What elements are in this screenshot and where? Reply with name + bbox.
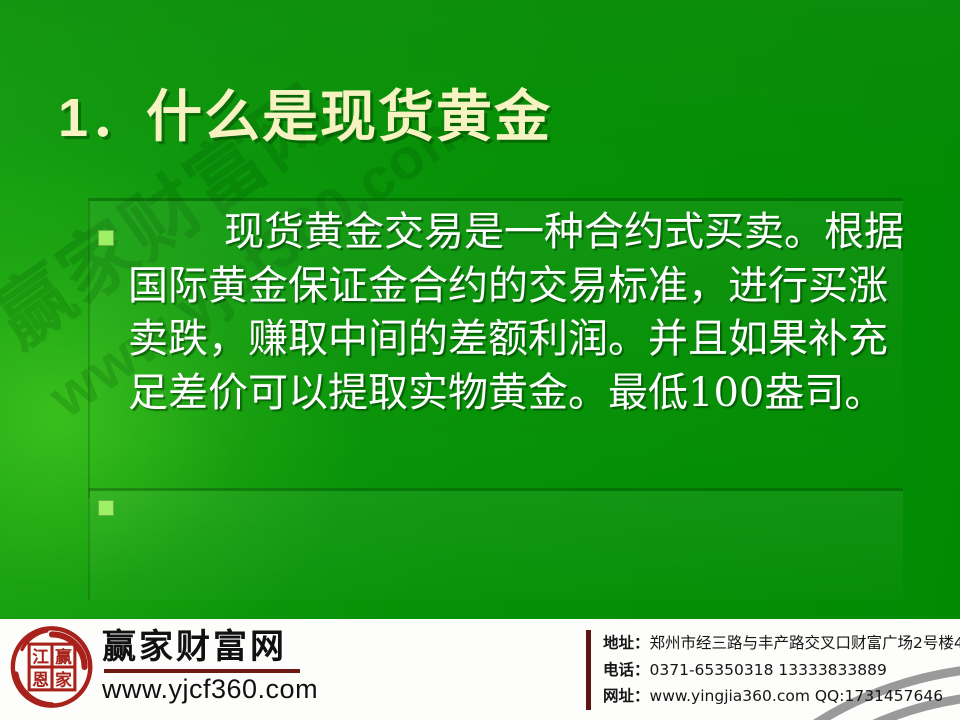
contact-label-address: 地址： bbox=[603, 634, 650, 652]
slide-canvas: 赢家财富网 www.yjcf360.com 1．什么是现货黄金 现货黄金交易是一… bbox=[0, 0, 960, 720]
contact-line-address: 地址：郑州市经三路与丰产路交叉口财富广场2号楼4楼C户 bbox=[603, 630, 960, 657]
contact-value-address: 郑州市经三路与丰产路交叉口财富广场2号楼4楼C户 bbox=[650, 634, 960, 652]
bullet-marker-1 bbox=[98, 230, 114, 246]
contact-value-phone: 0371-65350318 13333833889 bbox=[650, 661, 887, 679]
bullet-square-icon bbox=[98, 230, 114, 246]
contact-value-website[interactable]: www.yingjia360.com QQ:1731457646 bbox=[650, 687, 944, 705]
seal-char-tl: 江 bbox=[32, 647, 49, 667]
brand-divider bbox=[104, 669, 300, 673]
content-panel-secondary bbox=[88, 488, 903, 600]
page-title-number: 1． bbox=[58, 88, 146, 148]
contact-label-website: 网址： bbox=[603, 687, 650, 705]
contact-lines: 地址：郑州市经三路与丰产路交叉口财富广场2号楼4楼C户 电话：0371-6535… bbox=[603, 630, 960, 710]
brand-block: 江 赢 恩 家 赢家财富网 www.yjcf360.com bbox=[8, 623, 318, 711]
seal-char-br: 家 bbox=[55, 669, 72, 689]
brand-name: 赢家财富网 bbox=[102, 630, 318, 666]
page-title: 1．什么是现货黄金 bbox=[58, 72, 552, 153]
contact-label-phone: 电话： bbox=[603, 661, 650, 679]
contact-line-phone: 电话：0371-65350318 13333833889 bbox=[603, 657, 960, 684]
seal-char-bl: 恩 bbox=[32, 669, 49, 689]
contact-line-website: 网址：www.yingjia360.com QQ:1731457646 bbox=[603, 683, 960, 710]
seal-char-tr: 赢 bbox=[55, 647, 72, 667]
brand-text-block: 赢家财富网 www.yjcf360.com bbox=[102, 630, 318, 704]
bullet-marker-2 bbox=[98, 500, 114, 516]
brand-website-url[interactable]: www.yjcf360.com bbox=[102, 675, 318, 705]
bullet-square-icon bbox=[98, 500, 114, 516]
contact-block: 地址：郑州市经三路与丰产路交叉口财富广场2号楼4楼C户 电话：0371-6535… bbox=[586, 630, 960, 710]
contact-accent-bar bbox=[586, 630, 591, 710]
company-seal-logo-icon: 江 赢 恩 家 bbox=[8, 623, 96, 711]
page-title-text: 什么是现货黄金 bbox=[146, 84, 552, 150]
footer-bar: 江 赢 恩 家 赢家财富网 www.yjcf360.com 地址：郑州市经三路与… bbox=[0, 619, 960, 720]
body-paragraph: 现货黄金交易是一种合约式买卖。根据国际黄金保证金合约的交易标准，进行买涨卖跌，赚… bbox=[128, 206, 918, 420]
